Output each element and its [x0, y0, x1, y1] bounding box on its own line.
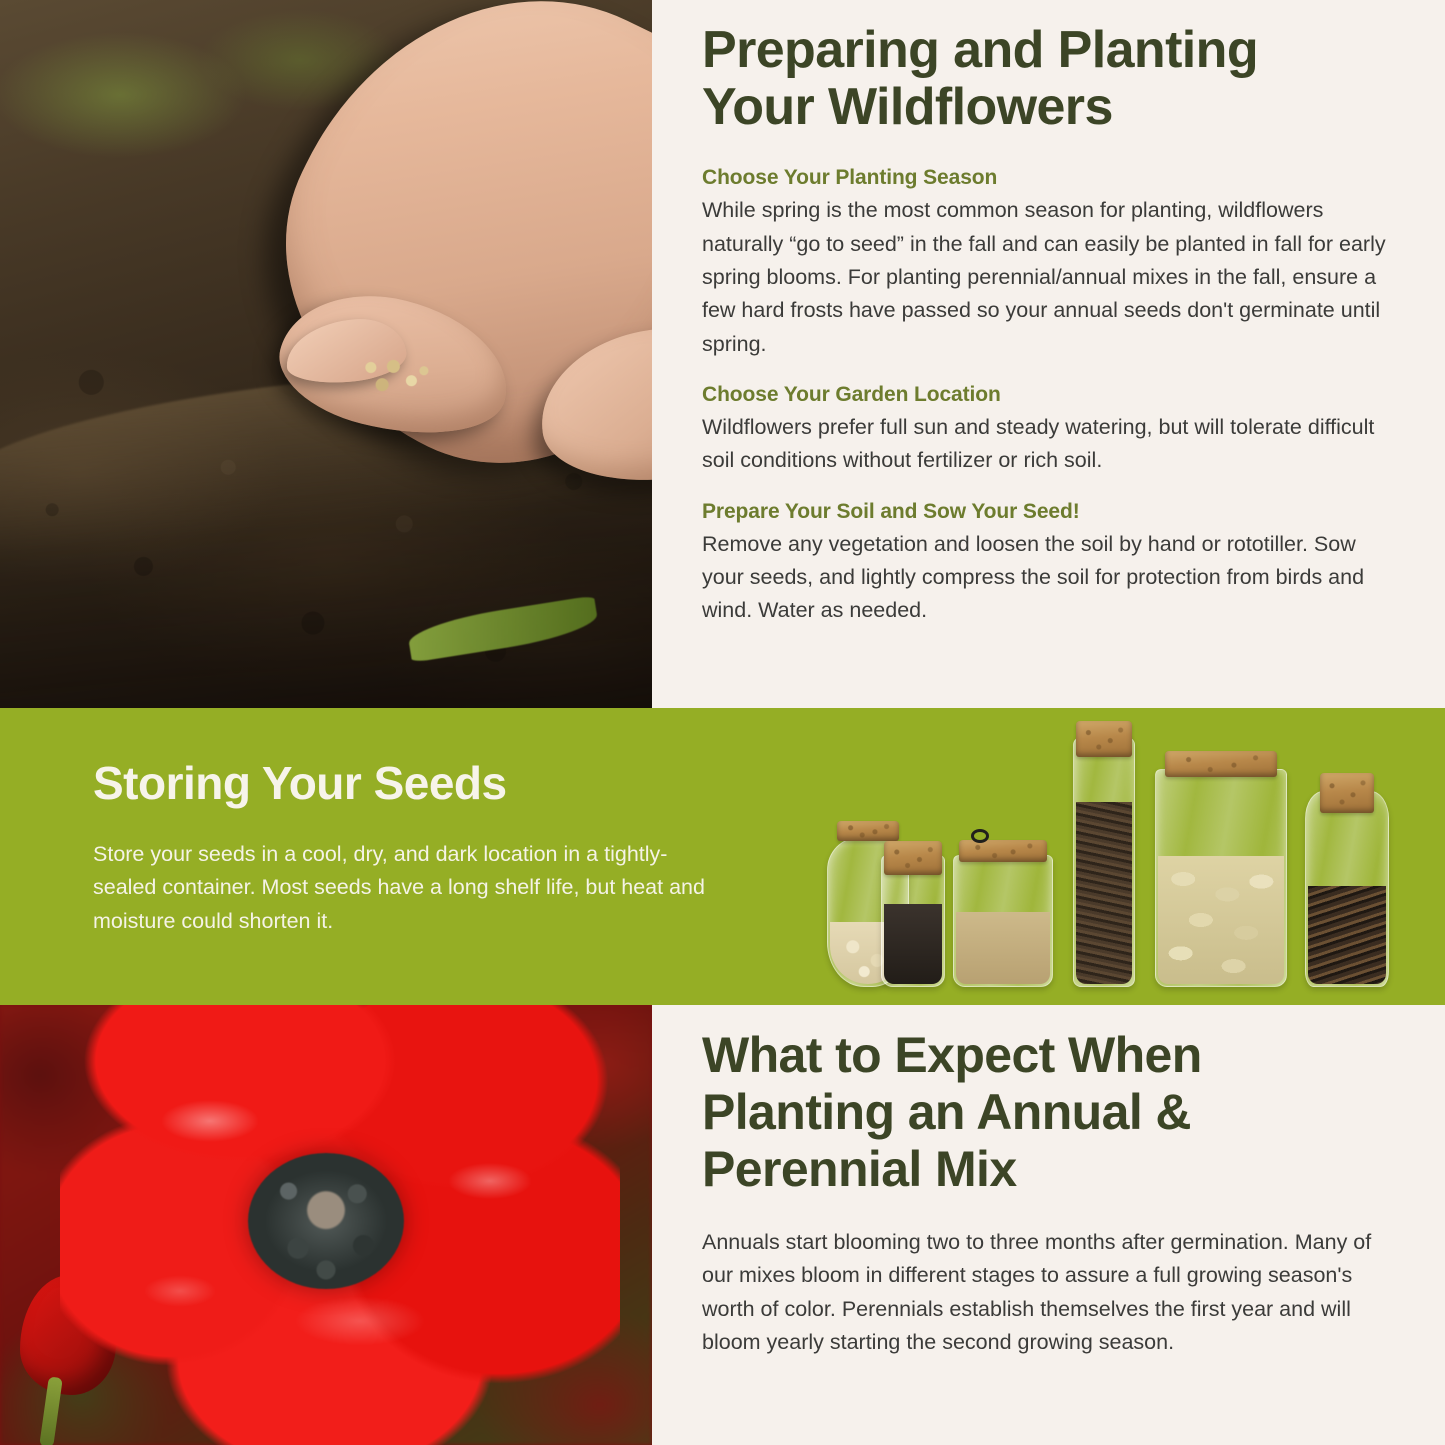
jar-large-pumpkin-seeds [1155, 769, 1287, 987]
expectations-body: Annuals start blooming two to three mont… [702, 1226, 1402, 1359]
infographic-page: Preparing and Planting Your Wildflowers … [0, 0, 1445, 1445]
section-storing-your-seeds: Storing Your Seeds Store your seeds in a… [0, 708, 1445, 1005]
jar-tall-tube-dark-seeds [1073, 737, 1135, 987]
cork-lid-icon [959, 840, 1047, 862]
page-title: Preparing and Planting Your Wildflowers [702, 22, 1362, 136]
planting-text-column: Preparing and Planting Your Wildflowers … [702, 0, 1402, 708]
jar-contents-sunflower-seeds [1308, 886, 1386, 984]
jar-sunflower-seeds [1305, 791, 1389, 987]
subheading-garden-location: Choose Your Garden Location [702, 383, 1402, 407]
body-garden-location: Wildflowers prefer full sun and steady w… [702, 411, 1402, 478]
storing-title: Storing Your Seeds [93, 756, 733, 810]
body-planting-season: While spring is the most common season f… [702, 194, 1402, 361]
cork-lid-icon [1076, 721, 1132, 757]
expectations-text-column: What to Expect When Planting an Annual &… [702, 1005, 1414, 1445]
cork-lid-icon [1165, 751, 1277, 777]
storing-body: Store your seeds in a cool, dry, and dar… [93, 838, 713, 938]
jar-dark-seeds-small [881, 855, 945, 987]
subheading-prepare-soil: Prepare Your Soil and Sow Your Seed! [702, 500, 1402, 524]
hands-sowing-seeds-image [0, 0, 652, 708]
seed-storage-jars-image [815, 716, 1445, 1005]
red-poppy-image [0, 1005, 652, 1445]
section-preparing-and-planting: Preparing and Planting Your Wildflowers … [0, 0, 1445, 708]
cork-lid-icon [837, 821, 899, 841]
jar-contents-dark-seeds [1076, 802, 1132, 984]
jar-contents-pumpkin-seeds [1158, 856, 1284, 984]
jar-ring-handle-icon [971, 829, 989, 843]
jar-tan-grain [953, 855, 1053, 987]
cork-lid-icon [884, 841, 942, 875]
poppy-stamen-center [248, 1153, 404, 1289]
jar-contents-tan-grain [956, 912, 1050, 984]
cork-lid-icon [1320, 773, 1374, 813]
section-what-to-expect: What to Expect When Planting an Annual &… [0, 1005, 1445, 1445]
subheading-planting-season: Choose Your Planting Season [702, 166, 1402, 190]
expectations-title: What to Expect When Planting an Annual &… [702, 1027, 1342, 1198]
storing-text-column: Storing Your Seeds Store your seeds in a… [93, 756, 733, 938]
body-prepare-soil: Remove any vegetation and loosen the soi… [702, 528, 1402, 628]
jar-contents-dark [884, 904, 942, 984]
